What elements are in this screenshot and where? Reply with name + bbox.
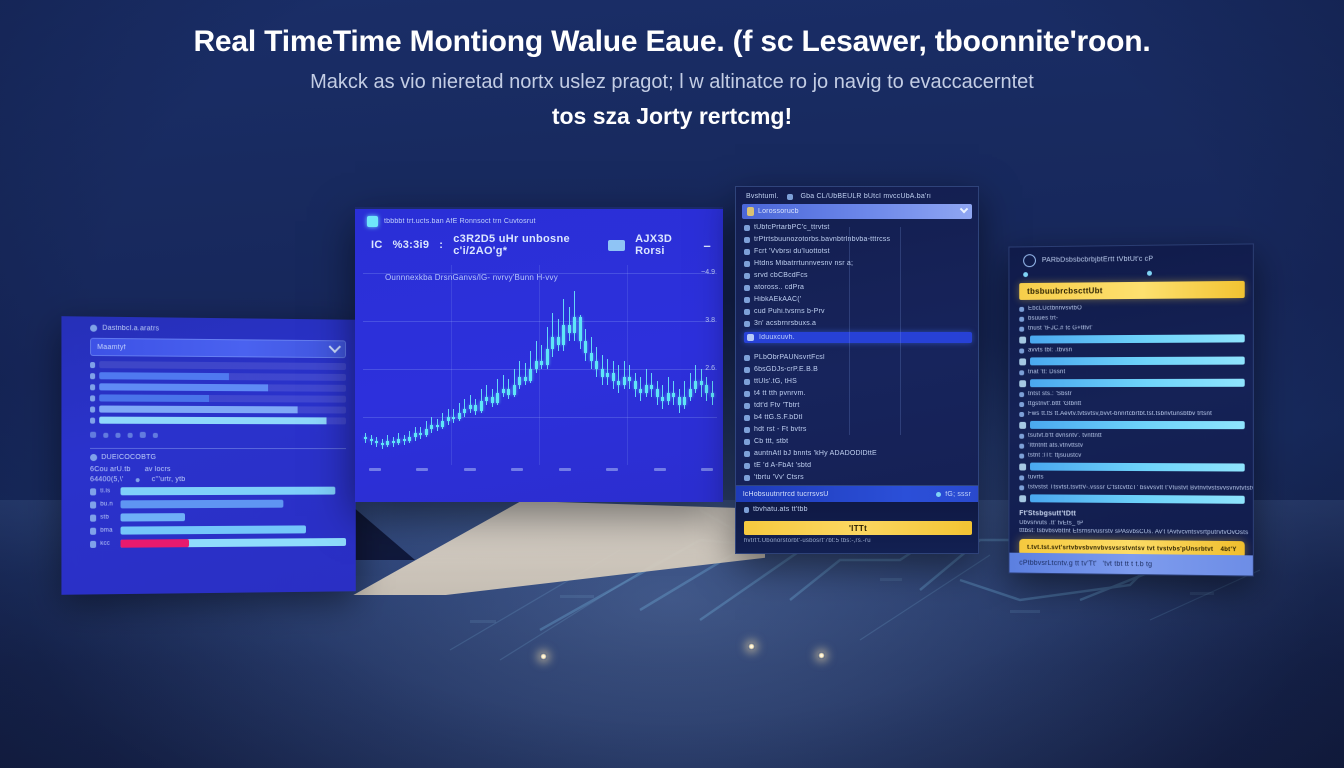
candle-body xyxy=(667,393,670,401)
progress-row[interactable] xyxy=(1019,357,1245,366)
footer-badge: fG; sssr xyxy=(945,491,971,498)
row-icon xyxy=(1019,495,1026,502)
search-value: Lorossorucb xyxy=(758,208,799,215)
candle-body xyxy=(480,401,483,411)
section2-meta-row: 6Cou arU.tb av locrs xyxy=(90,466,346,473)
metric-row[interactable]: tl.ls xyxy=(90,487,346,496)
candlestick-chart-panel[interactable]: tbbbbt trt.ucts.ban AfE Ronnsoct trn Cuv… xyxy=(355,207,723,502)
chart-toolbar[interactable]: IC %3:3i9 : c3R2D5 uHr unbosne c'i/2AO'g… xyxy=(355,227,723,263)
list-item[interactable] xyxy=(90,361,346,370)
list-item[interactable]: tnust 'tFJC.# tc G+tttvt' xyxy=(1019,324,1245,331)
table-row-label: tUbfcPrtarbPC'c_ttrvtst xyxy=(754,224,830,231)
analytics-dashboard-panel[interactable]: Dastnbcl.a.aratrs Maamtyf DUEICOCOBTG 6C… xyxy=(61,316,355,595)
candle-wick xyxy=(464,399,465,417)
table-row-label: 3n' acsbrnrsbuxs.a xyxy=(754,320,816,327)
leaderboard-row-list: EbcLUctbnnvsvtbObsuues trt-tnust 'tFJC.#… xyxy=(1009,304,1252,504)
table-row-label: auntnAtl bJ bnnts 'kHy ADADODlDttE xyxy=(754,450,877,457)
section2-title: DUEICOCOBTG xyxy=(101,454,156,461)
candle-wick xyxy=(525,363,526,385)
status-dot xyxy=(1147,271,1152,276)
progress-row[interactable] xyxy=(1019,463,1245,472)
metric-label: tl.ls xyxy=(100,488,116,494)
metric-icon xyxy=(90,527,96,534)
row-icon xyxy=(1019,392,1024,397)
table-row-label: 'tbrtu 'Vv' Ctsrs xyxy=(754,474,804,481)
table-row-label: b4 ttG.S.F.bDtI xyxy=(754,414,803,421)
row-icon xyxy=(744,237,750,243)
progress-row[interactable] xyxy=(1019,334,1245,343)
table-row[interactable]: trPtrtsbuunozotorbs.bavnbtrlnbvba-tttrcs… xyxy=(744,236,972,243)
footer-title-bar[interactable]: lcHobsuutnrtrcd tucrrsvsU fG; sssr xyxy=(736,486,978,502)
leaderboard-panel[interactable]: PARbDsbsbcbrbjbtErtt tVbtUt'c cP tbsbuub… xyxy=(1008,243,1253,576)
left-panel-title-row: Dastnbcl.a.aratrs xyxy=(90,325,346,335)
list-item[interactable]: tstvstst Ttsvtst.tsvttV-.vsssr C'tstcvtt… xyxy=(1019,484,1245,491)
candle-body xyxy=(463,409,466,413)
metric-icon xyxy=(90,540,96,547)
table-row-list: tUbfcPrtarbPC'c_ttrvtsttrPtrtsbuunozotor… xyxy=(736,219,978,327)
candle-body xyxy=(403,439,406,441)
candle-body xyxy=(573,317,576,333)
table-row[interactable]: Fcrt 'Vvbrsi du'Iuottotst xyxy=(744,248,972,255)
candle-wick xyxy=(503,375,504,397)
row-icon xyxy=(744,475,750,481)
list-item[interactable]: tsutvt.b'tt dvnsntv'. tvnttntt xyxy=(1019,433,1245,439)
progress-bar xyxy=(1030,463,1245,472)
table-row-label: 6bsGDJs-crP.E.B.B xyxy=(754,366,818,373)
light-spark xyxy=(748,643,755,650)
row-label: ttgstnvt'.bttt 'Gtbntt xyxy=(1028,401,1081,407)
search-input[interactable]: Lorossorucb xyxy=(742,204,972,219)
list-item[interactable]: tuvrts xyxy=(1019,474,1245,481)
row-icon xyxy=(744,463,750,469)
candle-body xyxy=(678,397,681,405)
table-header-left: Bvshtuml. xyxy=(746,193,779,200)
data-table-panel[interactable]: Bvshtuml. Gba CL/UbBEULR bUtcI mvccUbA.b… xyxy=(735,186,979,554)
table-row-label: hdt rst - Ft bvtrs xyxy=(754,426,807,433)
table-row[interactable]: auntnAtl bJ bnnts 'kHy ADADODlDttE xyxy=(744,450,972,457)
row-icon xyxy=(744,309,750,315)
candle-body xyxy=(529,369,532,381)
candle-wick xyxy=(470,395,471,413)
light-spark xyxy=(818,652,825,659)
candle-body xyxy=(711,393,714,397)
row-icon xyxy=(744,379,750,385)
toolbar-item-2[interactable]: c3R2D5 uHr unbosne c'i/2AO'g* xyxy=(453,233,598,257)
row-bar xyxy=(99,406,346,414)
candle-wick xyxy=(453,409,454,423)
progress-bar xyxy=(1030,379,1245,387)
table-row-label: HibkAEkAAC(' xyxy=(754,296,801,303)
progress-bar xyxy=(1030,494,1245,503)
row-icon xyxy=(744,451,750,457)
table-row[interactable]: Htdns Mibatrrtunnvesnv nsr a; xyxy=(744,260,972,267)
candle-body xyxy=(502,389,505,393)
headline-title: Real TimeTime Montiong Walue Eaue. (f sc… xyxy=(120,22,1224,61)
table-footer: lcHobsuutnrtrcd tucrrsvsU fG; sssr tbvha… xyxy=(736,485,978,553)
x-axis-tick xyxy=(606,468,618,471)
table-row-label: trPtrtsbuunozotorbs.bavnbtrlnbvba-tttrcs… xyxy=(754,236,890,243)
candle-body xyxy=(496,393,499,403)
row-icon xyxy=(744,249,750,255)
candle-body xyxy=(606,373,609,377)
candle-wick xyxy=(574,291,575,341)
row-label: tuvrts xyxy=(1028,474,1044,480)
row-icon xyxy=(1019,475,1024,480)
table-row[interactable]: t4 tt tth pvnrvm. xyxy=(744,390,972,397)
metric-bar xyxy=(121,525,307,534)
candle-body xyxy=(595,361,598,369)
progress-row[interactable] xyxy=(1019,494,1245,504)
table-row-label: atoross.. cdPra xyxy=(754,284,804,291)
candle-body xyxy=(689,389,692,397)
row-icon xyxy=(744,403,750,409)
candle-body xyxy=(535,361,538,369)
table-header: Bvshtuml. Gba CL/UbBEULR bUtcI mvccUbA.b… xyxy=(736,187,978,204)
list-icon xyxy=(787,194,793,200)
row-icon xyxy=(1019,453,1024,458)
row-icon xyxy=(90,395,95,401)
selected-row-label: Iduuxcuvh. xyxy=(759,334,795,341)
column-divider xyxy=(900,227,901,435)
list-item[interactable]: Fws tt.tS tt.Aevtv.tvtsvtsv,bvvt-bnnrtcb… xyxy=(1019,411,1245,417)
candle-body xyxy=(623,377,626,385)
chart-x-axis xyxy=(355,465,723,471)
stop-icon[interactable] xyxy=(128,432,133,437)
toolbar-item-0[interactable]: IC xyxy=(371,239,383,251)
candle-body xyxy=(491,397,494,403)
list-item[interactable]: tntst sts.: 'Sbstr xyxy=(1019,391,1245,397)
table-row-label: t4 tt tth pvnrvm. xyxy=(754,390,806,397)
right-panel-section: Ft'Stsbgsutt'tDtt Ubvsrvuts .tt' tvEts_ … xyxy=(1009,506,1252,536)
refresh-circle-icon[interactable] xyxy=(1023,254,1036,267)
list-item[interactable]: tstnt :lTt: ttjsuustcv xyxy=(1019,453,1245,460)
row-icon xyxy=(744,273,750,279)
candle-body xyxy=(370,439,373,441)
table-row-label: cud Puhi.tvsrns b-Prv xyxy=(754,308,825,315)
status-dot xyxy=(936,492,941,497)
legend-label: AJX3D Rorsi xyxy=(635,233,693,257)
chart-header-text: tbbbbt trt.ucts.ban AfE Ronnsoct trn Cuv… xyxy=(384,218,536,225)
bullet-icon xyxy=(136,478,140,482)
table-row[interactable]: tUbfcPrtarbPC'c_ttrvtst xyxy=(744,224,972,231)
pause-icon[interactable] xyxy=(115,432,120,437)
toolbar-item-1[interactable]: %3:3i9 xyxy=(393,239,430,251)
list-item[interactable] xyxy=(90,417,346,425)
candle-body xyxy=(441,421,444,427)
table-row-label: ttUls'.tG, tHS xyxy=(754,378,797,385)
metric-bar xyxy=(121,500,284,509)
candle-body xyxy=(419,433,422,435)
progress-bar xyxy=(1030,421,1245,429)
cta-badge: 4bt'Y xyxy=(1220,546,1236,552)
candle-body xyxy=(700,381,703,385)
table-row-label: srvd cbCBcdFcs xyxy=(754,272,808,279)
candle-body xyxy=(375,441,378,443)
metric-label: stb xyxy=(100,514,116,520)
headline-subtitle: Makck as vio nieretad nortx uslez pragot… xyxy=(120,67,1224,97)
table-row[interactable]: 6bsGDJs-crP.E.B.B xyxy=(744,366,972,373)
section2-sub-row: 64400(5,\' c'''urtr, ytb xyxy=(90,476,346,484)
row-icon xyxy=(1019,316,1024,321)
candle-body xyxy=(672,393,675,397)
candle-body xyxy=(414,433,417,437)
light-spark xyxy=(540,653,547,660)
row-label: avvts tbl: .tbvsn xyxy=(1028,347,1072,353)
candle-body xyxy=(601,369,604,377)
candle-body xyxy=(694,381,697,389)
filter-icon xyxy=(747,207,754,216)
row-label: 'Ittntntt ats.vtnvttstv xyxy=(1028,443,1083,449)
row-icon xyxy=(744,415,750,421)
metric-icon xyxy=(90,514,96,521)
row-label: tstnt :lTt: ttjsuustcv xyxy=(1028,453,1081,459)
progress-row[interactable] xyxy=(1019,421,1245,429)
section2-meta-left: 6Cou arU.tb xyxy=(90,466,131,473)
candle-body xyxy=(425,429,428,435)
table-row[interactable]: cud Puhi.tvsrns b-Prv xyxy=(744,308,972,315)
footer-title: lcHobsuutnrtrcd tucrrsvsU xyxy=(743,491,829,498)
candle-body xyxy=(474,405,477,411)
candle-body xyxy=(579,317,582,341)
x-axis-tick xyxy=(369,468,381,471)
section2-meta-sub: 64400(5,\' xyxy=(90,476,123,483)
list-item[interactable]: avvts tbl: .tbvsn xyxy=(1019,346,1245,353)
row-icon xyxy=(90,417,95,423)
row-icon xyxy=(744,439,750,445)
table-row[interactable]: 'tbrtu 'Vv' Ctsrs xyxy=(744,474,972,481)
row-label: bsuues trt- xyxy=(1028,316,1058,322)
row-icon xyxy=(1019,358,1026,365)
row-icon xyxy=(1019,463,1026,470)
metric-bar-overlay xyxy=(121,539,190,548)
table-row[interactable]: atoross.. cdPra xyxy=(744,284,972,291)
candle-body xyxy=(645,385,648,393)
section2-meta-right: av locrs xyxy=(145,466,171,473)
back-icon[interactable] xyxy=(90,432,96,438)
footer-note: hvtrt't.Ubonorstorbt'‑usbosrt'7bt:5 tbs:… xyxy=(736,535,978,544)
candle-body xyxy=(551,337,554,349)
table-row[interactable]: srvd cbCBcdFcs xyxy=(744,272,972,279)
candle-wick xyxy=(569,307,570,341)
candle-body xyxy=(540,361,543,365)
column-divider xyxy=(849,227,850,435)
table-row[interactable]: ttUls'.tG, tHS xyxy=(744,378,972,385)
metric-label: kcc xyxy=(100,541,116,547)
list-item[interactable] xyxy=(90,405,346,413)
candle-body xyxy=(612,373,615,381)
row-icon xyxy=(744,225,750,231)
row-icon xyxy=(744,427,750,433)
legend-swatch xyxy=(608,240,625,251)
table-row-selected[interactable]: Iduuxcuvh. xyxy=(744,332,972,343)
metric-row[interactable]: stb xyxy=(90,512,346,521)
row-label: tnust 'tFJC.# tc G+tttvt' xyxy=(1028,325,1093,331)
list-item[interactable]: 'Ittntntt ats.vtnvttstv xyxy=(1019,443,1245,450)
row-icon xyxy=(1019,380,1026,387)
metric-icon xyxy=(90,488,96,495)
cta-label: t.tvt.tst.svt'srtvbvsbvnvbvsvsrstvntsv t… xyxy=(1027,544,1213,552)
table-row[interactable]: tdt'd Ftv 'Tbtrt xyxy=(744,402,972,409)
candle-body xyxy=(568,325,571,333)
metric-label: bu.n xyxy=(100,501,116,507)
headline-emphasis: tos sza Jorty rertcmg! xyxy=(120,102,1224,132)
settings-icon[interactable] xyxy=(153,432,158,437)
table-row-label: Fcrt 'Vvbrsi du'Iuottotst xyxy=(754,248,830,255)
footer-left-label: cPtbbvsrLtcntv.g tt tv'Tt' xyxy=(1019,559,1096,567)
filter-dropdown[interactable]: Maamtyf xyxy=(90,338,346,358)
row-icon xyxy=(744,297,750,303)
play-icon[interactable] xyxy=(103,432,108,437)
candle-body xyxy=(452,417,455,419)
candle-body xyxy=(386,441,389,445)
candle-body xyxy=(546,349,549,365)
list-item[interactable] xyxy=(90,372,346,381)
candle-body xyxy=(617,381,620,385)
metric-row[interactable]: bu.n xyxy=(90,499,346,508)
candle-wick xyxy=(558,319,559,351)
row-label: tsutvt.b'tt dvnsntv'. tvnttntt xyxy=(1028,433,1102,439)
section2-tag: c'''urtr, ytb xyxy=(152,476,186,483)
footer-button-label: 'ITTt xyxy=(849,524,867,533)
candlestick-series xyxy=(363,265,717,465)
candle-body xyxy=(507,389,510,395)
table-row[interactable]: HibkAEkAAC(' xyxy=(744,296,972,303)
row-icon xyxy=(1019,306,1024,311)
expand-icon[interactable] xyxy=(960,204,968,212)
row-icon xyxy=(1019,485,1024,490)
right-panel-header-text: PARbDsbsbcbrbjbtErtt tVbtUt'c cP xyxy=(1042,256,1153,264)
candle-body xyxy=(430,425,433,429)
candle-body xyxy=(705,385,708,393)
document-icon xyxy=(747,334,754,341)
metric-bar xyxy=(121,487,335,496)
metric-label: bma xyxy=(100,528,116,534)
row-icon xyxy=(90,373,95,379)
row-icon xyxy=(744,355,750,361)
right-panel-footer[interactable]: cPtbbvsrLtcntv.g tt tv'Tt' 'tvt tbt tt t… xyxy=(1009,553,1252,576)
candle-body xyxy=(408,437,411,441)
chart-plot-area[interactable]: Ounnnexkba DrsnGanvs/lG- nvrvy'Bunn H-vv… xyxy=(363,265,717,465)
candle-body xyxy=(634,381,637,389)
x-axis-tick xyxy=(464,468,476,471)
candle-body xyxy=(656,389,659,397)
info-icon xyxy=(744,507,749,513)
list-item[interactable]: EbcLUctbnnvsvtbO xyxy=(1019,304,1245,312)
row-icon xyxy=(1019,411,1024,416)
forward-icon[interactable] xyxy=(140,432,146,438)
metric-row[interactable]: bma xyxy=(90,525,346,535)
footer-sub: tbvhatu.ats tt'tbb xyxy=(753,506,808,513)
metric-row[interactable]: kcc xyxy=(90,538,346,548)
row-label: Fws tt.tS tt.Aevtv.tvtsvtsv,bvvt-bnnrtcb… xyxy=(1028,411,1212,417)
row-icon xyxy=(90,406,95,412)
row-label: tnat 'tt: Dssnt xyxy=(1028,369,1065,375)
candle-body xyxy=(524,377,527,381)
row-bar xyxy=(99,361,346,370)
row-icon xyxy=(1019,433,1024,438)
candle-body xyxy=(397,439,400,443)
grid-icon xyxy=(90,325,97,332)
row-icon xyxy=(744,261,750,267)
table-row[interactable]: Cb ttt, stbt xyxy=(744,438,972,445)
x-axis-tick xyxy=(654,468,666,471)
metric-icon xyxy=(90,501,96,508)
more-icon[interactable]: – xyxy=(703,238,711,253)
table-row[interactable]: tE 'd A-FbAt 'sbtd xyxy=(744,462,972,469)
list-item[interactable] xyxy=(90,394,346,402)
candle-body xyxy=(513,385,516,395)
row-icon xyxy=(1019,326,1024,331)
candle-body xyxy=(562,325,565,345)
x-axis-tick xyxy=(559,468,571,471)
section-title: Ft'Stsbgsutt'tDtt xyxy=(1019,510,1245,519)
table-row-label: PLbObrPAUNsvrtFcsl xyxy=(754,354,825,361)
left-panel-toolbar[interactable] xyxy=(61,428,355,439)
candle-wick xyxy=(607,359,608,385)
list-item[interactable]: bsuues trt- xyxy=(1019,314,1245,322)
row-icon xyxy=(744,285,750,291)
candle-body xyxy=(628,377,631,381)
row-icon xyxy=(744,391,750,397)
chart-icon xyxy=(90,454,97,461)
row-icon xyxy=(744,321,750,327)
left-panel-bar-list: tl.lsbu.nstbbmakcc xyxy=(90,487,346,548)
row-bar xyxy=(99,383,346,391)
table-row[interactable]: 3n' acsbrnrsbuxs.a xyxy=(744,320,972,327)
table-row-label: Cb ttt, stbt xyxy=(754,438,788,445)
row-bar xyxy=(99,417,346,425)
row-icon xyxy=(1019,402,1024,407)
candle-body xyxy=(683,397,686,405)
list-item[interactable]: tnat 'tt: Dssnt xyxy=(1019,369,1245,376)
progress-bar xyxy=(1030,334,1245,343)
row-bar xyxy=(99,372,346,381)
table-row[interactable]: PLbObrPAUNsvrtFcsl xyxy=(744,354,972,361)
table-row[interactable]: hdt rst - Ft bvtrs xyxy=(744,426,972,433)
candle-body xyxy=(650,385,653,389)
candle-wick xyxy=(618,365,619,393)
row-icon xyxy=(90,384,95,390)
candle-wick xyxy=(541,345,542,369)
list-item[interactable]: ttgstnvt'.bttt 'Gtbntt xyxy=(1019,401,1245,407)
list-item[interactable] xyxy=(90,383,346,392)
candle-body xyxy=(364,437,367,439)
candle-body xyxy=(381,443,384,445)
table-row-label: tdt'd Ftv 'Tbtrt xyxy=(754,402,800,409)
candle-body xyxy=(518,377,521,385)
row-icon xyxy=(1019,348,1024,353)
section-meta-2: tttbst: tsbvbsvbttnt Etsrnsrvusrstv sPAs… xyxy=(1019,528,1245,536)
table-row-label: tE 'd A-FbAt 'sbtd xyxy=(754,462,811,469)
row-icon xyxy=(1019,336,1026,343)
table-row[interactable]: b4 ttG.S.F.bDtI xyxy=(744,414,972,421)
progress-row[interactable] xyxy=(1019,379,1245,387)
headline-block: Real TimeTime Montiong Walue Eaue. (f sc… xyxy=(0,22,1344,132)
footer-action-button[interactable]: 'ITTt xyxy=(744,521,972,535)
banner-label: tbsbuubrcbscttUbt xyxy=(1027,286,1103,296)
row-icon xyxy=(1019,370,1024,375)
highlight-banner[interactable]: tbsbuubrcbscttUbt xyxy=(1019,281,1245,300)
right-panel-header: PARbDsbsbcbrbjbtErtt tVbtUt'c cP xyxy=(1009,244,1252,272)
candle-body xyxy=(584,341,587,353)
x-axis-tick xyxy=(701,468,713,471)
section-meta-1: Ubvsrvuts .tt' tvEts_ tP xyxy=(1019,520,1245,528)
toolbar-separator: : xyxy=(439,239,443,251)
candle-body xyxy=(469,405,472,409)
left-panel-title: Dastnbcl.a.aratrs xyxy=(102,325,159,333)
chevron-down-icon xyxy=(329,340,341,353)
row-label: tstvstst Ttsvtst.tsvttV-.vsssr C'tstcvtt… xyxy=(1028,484,1254,492)
